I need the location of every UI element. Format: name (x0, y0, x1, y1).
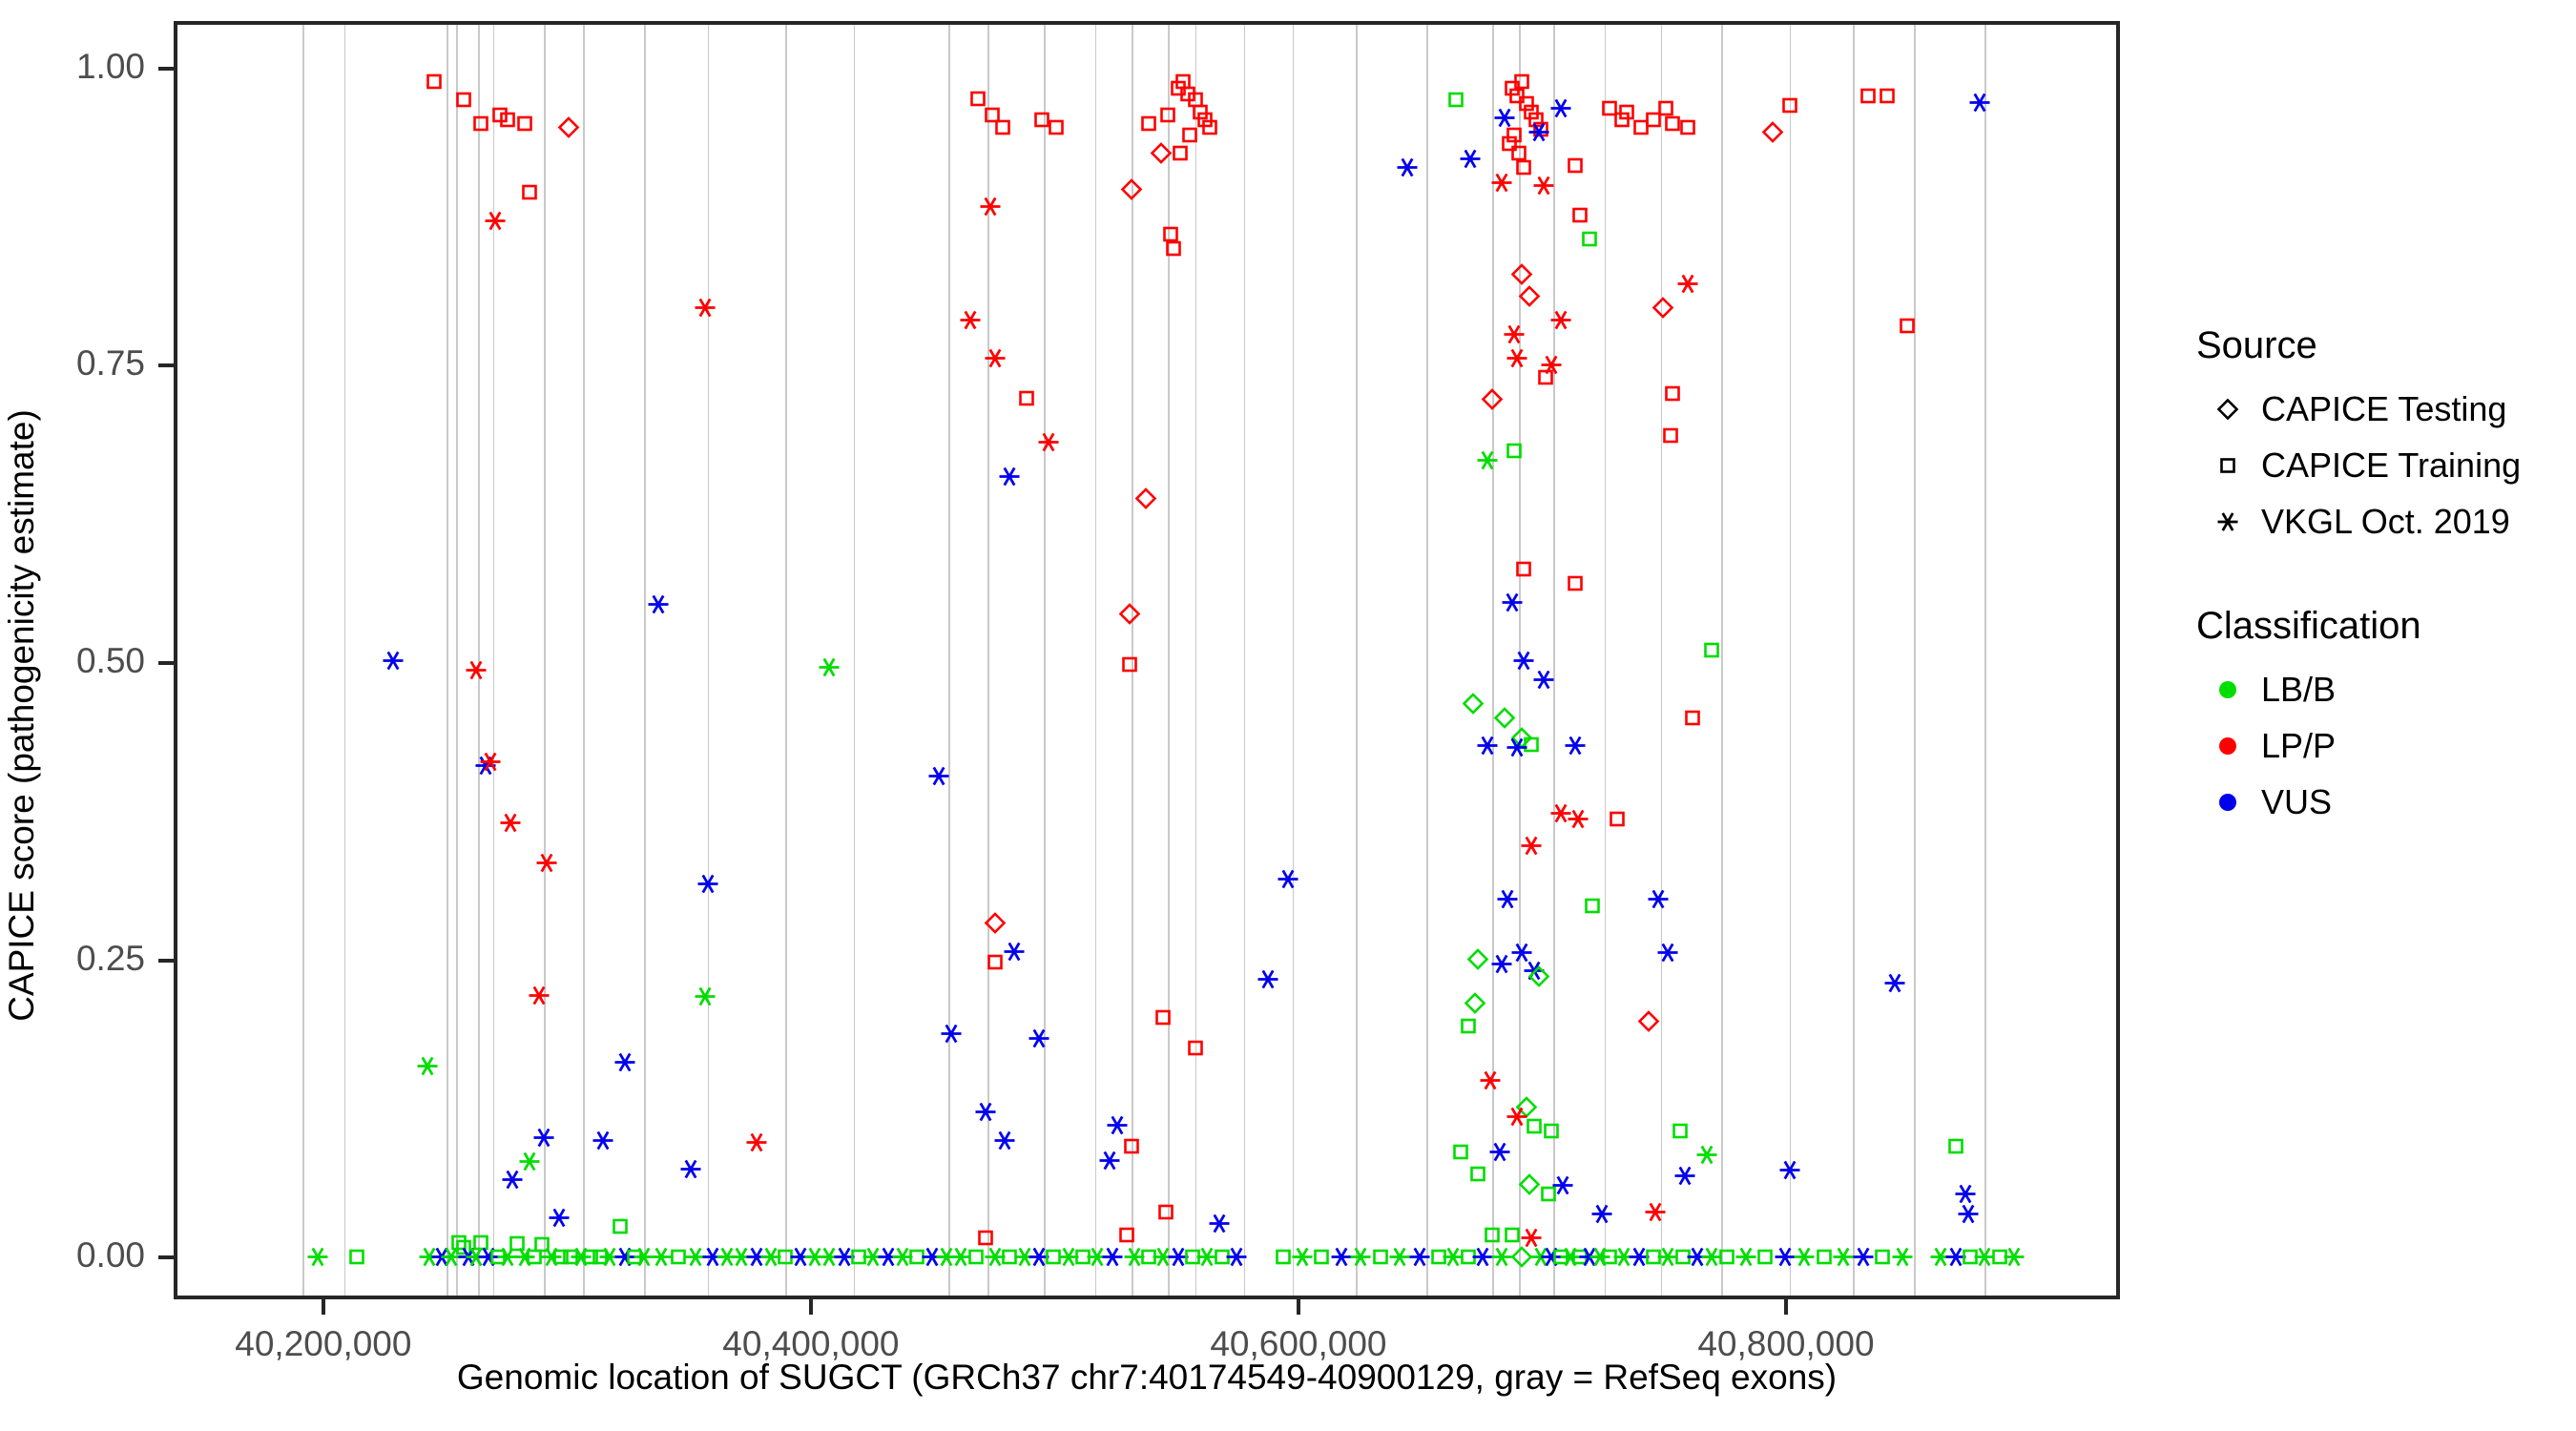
data-point (1683, 1242, 1712, 1275)
exon-gridline (1492, 25, 1494, 1296)
data-point (1537, 1242, 1566, 1275)
data-point (1644, 884, 1672, 918)
data-point (990, 1126, 1019, 1159)
data-point (1010, 1242, 1039, 1275)
y-tick-mark (158, 67, 174, 71)
data-point (611, 1242, 639, 1275)
legend-title-source: Source (2196, 324, 2566, 367)
data-point (903, 1242, 931, 1275)
y-tick-label: 0.50 (0, 641, 145, 681)
data-point (888, 1242, 917, 1275)
data-point (437, 1242, 466, 1275)
data-point (1405, 1242, 1434, 1275)
exon-gridline (1605, 25, 1607, 1296)
data-point (545, 1203, 573, 1236)
data-point (611, 1047, 639, 1081)
data-point (1525, 962, 1553, 995)
exon-gridline (1853, 25, 1855, 1296)
data-point (467, 1228, 495, 1261)
data-point (1547, 798, 1575, 832)
data-point (1531, 363, 1560, 396)
dot-lp-p-icon (2194, 717, 2261, 774)
data-point (496, 808, 525, 841)
data-point (1561, 570, 1589, 603)
data-point (1149, 1004, 1177, 1037)
exon-gridline (1790, 25, 1792, 1296)
data-point (698, 1242, 727, 1275)
data-point (1561, 731, 1589, 764)
data-point (1274, 864, 1302, 898)
data-point (1507, 938, 1536, 971)
data-point (1547, 93, 1575, 127)
data-point (995, 1242, 1024, 1275)
data-point (1169, 68, 1197, 101)
data-point (1028, 106, 1056, 139)
legend-item-dot-lp-p[interactable]: LP/P (2194, 717, 2566, 774)
data-point (1527, 1242, 1555, 1275)
legend-spacer (2194, 550, 2566, 605)
data-point (1517, 831, 1546, 864)
plot-panel (174, 21, 2120, 1299)
exon-gridline (1356, 25, 1358, 1296)
data-point (1520, 956, 1548, 989)
data-point (1564, 805, 1592, 839)
data-point (1534, 1179, 1563, 1213)
data-point (537, 1242, 566, 1275)
x-tick-mark (1784, 1299, 1788, 1315)
data-point (303, 1242, 332, 1275)
data-point (567, 1242, 595, 1275)
data-point (1149, 1242, 1177, 1275)
data-point (815, 1242, 843, 1275)
data-point (978, 101, 1007, 135)
data-point (1522, 106, 1550, 139)
data-point (742, 1242, 771, 1275)
dot-vus-icon (2194, 774, 2261, 830)
data-point (981, 908, 1009, 942)
data-point (1132, 484, 1160, 517)
exon-gridline (493, 25, 495, 1296)
data-point (1346, 1242, 1375, 1275)
exon-gridline (948, 25, 950, 1296)
data-point (1873, 82, 1901, 115)
data-point (1517, 1223, 1546, 1256)
data-point (786, 1242, 815, 1275)
legend-classification-items: LB/BLP/PVUS (2194, 661, 2566, 830)
data-point (1639, 1242, 1668, 1275)
data-point (1771, 1242, 1799, 1275)
data-point (1152, 1197, 1180, 1231)
data-point (1547, 305, 1575, 339)
data-point (691, 982, 719, 1015)
exon-gridline (1244, 25, 1246, 1296)
data-point (449, 1233, 478, 1266)
asterisk-vkgl-oct-2019-icon (2194, 493, 2261, 550)
data-point (528, 1231, 556, 1264)
data-point (1493, 884, 1522, 918)
data-point (681, 1242, 710, 1275)
data-point (1175, 121, 1204, 155)
data-point (1507, 260, 1536, 294)
data-point (1634, 1007, 1663, 1041)
data-point (1456, 145, 1485, 178)
data-point (1115, 651, 1144, 684)
data-point (1186, 97, 1215, 131)
data-point (1174, 79, 1202, 113)
legend-item-dot-lb-b[interactable]: LB/B (2194, 661, 2566, 717)
data-point (1713, 1242, 1741, 1275)
data-point (1669, 1242, 1697, 1275)
data-point (1671, 1162, 1699, 1195)
data-point (493, 106, 522, 139)
data-point (981, 947, 1009, 981)
x-tick-mark (1297, 1299, 1300, 1315)
data-point (946, 1242, 975, 1275)
data-point (1926, 1242, 1955, 1275)
data-point (1500, 320, 1528, 353)
data-point (1965, 88, 1994, 121)
data-point (976, 193, 1005, 226)
data-point (1625, 1242, 1653, 1275)
data-point (1503, 1102, 1531, 1135)
data-point (1476, 1067, 1505, 1100)
data-point (844, 1242, 873, 1275)
data-point (676, 1154, 705, 1188)
data-point (1527, 115, 1555, 149)
exon-gridline (1721, 25, 1723, 1296)
data-point (1178, 1242, 1207, 1275)
data-point (981, 343, 1009, 377)
data-point (1120, 1242, 1149, 1275)
exon-gridline (344, 25, 346, 1296)
data-point (379, 647, 407, 680)
data-point (1464, 1159, 1492, 1192)
data-point (471, 752, 500, 785)
data-point (525, 981, 553, 1014)
exon-gridline (302, 25, 304, 1296)
chart-root: CAPICE score (pathogenicity estimate) 0.… (0, 0, 2576, 1431)
data-point (503, 1230, 531, 1263)
y-tick-label: 1.00 (0, 47, 145, 87)
data-point (1751, 1242, 1779, 1275)
diamond-capice-testing-icon (2194, 381, 2261, 437)
data-point (427, 1242, 456, 1275)
data-point (415, 1242, 444, 1275)
data-point (547, 1242, 575, 1275)
data-point (1586, 1242, 1614, 1275)
data-point (727, 1242, 756, 1275)
data-point (1473, 731, 1502, 764)
data-point (1603, 805, 1631, 839)
data-point (532, 849, 561, 882)
data-point (481, 207, 509, 240)
y-tick-mark (158, 661, 174, 665)
data-point (1517, 730, 1546, 763)
data-point (1025, 1024, 1053, 1057)
data-point (1758, 117, 1787, 151)
data-point (1566, 200, 1594, 234)
data-point (1112, 1221, 1141, 1255)
dot-lb-b-icon (2194, 661, 2261, 717)
data-point (1095, 1146, 1124, 1179)
data-point (486, 101, 514, 135)
exon-gridline (1132, 25, 1133, 1296)
data-point (874, 1242, 903, 1275)
data-point (420, 68, 448, 101)
data-point (1509, 647, 1538, 680)
legend-label: VUS (2261, 782, 2332, 822)
data-point (1500, 121, 1528, 155)
data-point (1951, 1179, 1980, 1213)
data-point (1507, 68, 1536, 101)
data-point (1159, 234, 1188, 267)
data-point (343, 1242, 371, 1275)
data-point (1454, 1012, 1483, 1046)
data-point (515, 1148, 544, 1181)
data-point (1610, 1242, 1638, 1275)
data-point (1103, 1110, 1132, 1144)
exon-gridline (987, 25, 989, 1296)
data-point (1424, 1242, 1453, 1275)
legend-title-classification: Classification (2196, 605, 2566, 648)
data-point (1498, 1221, 1527, 1255)
exon-gridline (1519, 25, 1521, 1296)
plot-area (177, 25, 2116, 1296)
exon-gridline (644, 25, 646, 1296)
data-point (586, 1242, 614, 1275)
data-point (449, 86, 478, 119)
legend-label: CAPICE Testing (2261, 389, 2506, 429)
exon-gridline (1095, 25, 1097, 1296)
exon-gridline (785, 25, 787, 1296)
exon-gridline (1661, 25, 1663, 1296)
data-point (1464, 945, 1492, 979)
y-tick-mark (158, 1255, 174, 1259)
exon-gridline (1168, 25, 1170, 1296)
data-point (1525, 117, 1553, 151)
data-point (1498, 589, 1527, 622)
legend: Source CAPICE TestingCAPICE TrainingVKGL… (2194, 324, 2566, 830)
data-point (1461, 989, 1489, 1023)
data-point (1459, 690, 1487, 723)
data-point (1985, 1242, 2014, 1275)
data-point (1578, 892, 1607, 925)
data-point (1556, 1242, 1585, 1275)
data-point (647, 1242, 675, 1275)
data-point (1439, 1242, 1467, 1275)
exon-gridline (478, 25, 480, 1296)
data-point (576, 1242, 605, 1275)
exon-gridline (1426, 25, 1428, 1296)
data-point (606, 1212, 634, 1245)
data-point (1566, 1242, 1594, 1275)
data-point (988, 113, 1017, 146)
data-point (1134, 1242, 1163, 1275)
data-point (1666, 1116, 1694, 1150)
data-point (1790, 1242, 1818, 1275)
data-point (1222, 1242, 1251, 1275)
data-point (742, 1129, 771, 1162)
data-point (1595, 1242, 1624, 1275)
data-point (1868, 1242, 1897, 1275)
exon-gridline (708, 25, 710, 1296)
data-point (1956, 1242, 1984, 1275)
data-point (664, 1242, 693, 1275)
data-point (1208, 1242, 1236, 1275)
data-point (1588, 1200, 1616, 1234)
data-point (1366, 1242, 1395, 1275)
x-axis-title: Genomic location of SUGCT (GRCh37 chr7:4… (174, 1355, 2120, 1400)
data-point (1653, 938, 1682, 971)
legend-item-diamond-capice-testing[interactable]: CAPICE Testing (2194, 381, 2566, 437)
exon-gridline (583, 25, 585, 1296)
data-point (1810, 1242, 1839, 1275)
data-point (1134, 110, 1163, 143)
data-point (1503, 343, 1531, 377)
data-point (413, 1052, 442, 1086)
data-point (1512, 89, 1541, 122)
legend-label: LB/B (2261, 670, 2336, 710)
data-point (1454, 1242, 1483, 1275)
data-point (1156, 219, 1185, 253)
data-point (476, 748, 505, 781)
y-tick-label: 0.25 (0, 939, 145, 979)
square-capice-training-icon (2194, 437, 2261, 493)
data-point (1025, 1242, 1053, 1275)
data-point (971, 1223, 1000, 1256)
exon-gridline (1293, 25, 1295, 1296)
data-point (757, 1242, 785, 1275)
data-point (1485, 1138, 1514, 1172)
data-point (713, 1242, 741, 1275)
data-point (1205, 1210, 1234, 1243)
data-point (1547, 1242, 1575, 1275)
data-point (1954, 1200, 1983, 1234)
legend-label: CAPICE Training (2261, 446, 2521, 486)
data-point (510, 110, 539, 143)
data-point (1732, 1242, 1760, 1275)
data-point (1520, 1111, 1548, 1145)
data-point (918, 1242, 946, 1275)
data-point (556, 1242, 585, 1275)
data-point (691, 294, 719, 327)
data-point (1385, 1242, 1414, 1275)
data-point (589, 1126, 617, 1159)
data-point (1490, 103, 1519, 136)
data-point (1509, 555, 1538, 589)
data-point (1608, 106, 1636, 139)
data-point (962, 1242, 990, 1275)
data-point (1490, 704, 1519, 737)
data-point (1069, 1242, 1097, 1275)
data-point (1393, 154, 1422, 187)
data-point (1888, 1242, 1917, 1275)
data-point (1473, 446, 1502, 479)
y-tick-mark (158, 959, 174, 963)
y-tick-label: 0.75 (0, 343, 145, 384)
data-point (1012, 384, 1041, 417)
data-point (1500, 436, 1528, 469)
data-point (1893, 311, 1922, 344)
exon-gridline (456, 25, 458, 1296)
data-point (445, 1228, 473, 1261)
data-point (1115, 599, 1144, 633)
data-point (1653, 1242, 1682, 1275)
data-point (1503, 82, 1531, 115)
data-point (1575, 224, 1604, 258)
data-point (1575, 1242, 1604, 1275)
data-point (462, 1242, 490, 1275)
legend-source-items: CAPICE TestingCAPICE TrainingVKGL Oct. 2… (2194, 381, 2566, 550)
exon-gridline (1044, 25, 1046, 1296)
data-point (1942, 1132, 1970, 1166)
data-point (1517, 97, 1546, 131)
data-point (1658, 379, 1687, 412)
exon-gridline (854, 25, 856, 1296)
exon-gridline (1984, 25, 1986, 1296)
data-point (1327, 1242, 1356, 1275)
data-point (1083, 1242, 1111, 1275)
data-point (595, 1242, 624, 1275)
data-point (1673, 270, 1702, 303)
data-point (1503, 734, 1531, 767)
legend-item-dot-vus[interactable]: VUS (2194, 774, 2566, 830)
data-point (1641, 1197, 1670, 1231)
data-point (510, 1242, 539, 1275)
data-point (1678, 704, 1707, 737)
data-point (1034, 428, 1063, 462)
legend-item-square-capice-training[interactable]: CAPICE Training (2194, 437, 2566, 493)
x-tick-mark (322, 1299, 325, 1315)
data-point (971, 1097, 1000, 1130)
data-point (1658, 110, 1687, 143)
data-point (1193, 1242, 1221, 1275)
data-point (981, 1242, 1009, 1275)
data-point (1561, 151, 1589, 184)
data-point (498, 1165, 527, 1198)
exon-gridline (1195, 25, 1197, 1296)
exon-gridline (1553, 25, 1555, 1296)
data-point (1612, 97, 1641, 131)
data-point (1147, 139, 1175, 173)
data-point (1166, 139, 1195, 173)
y-tick-label: 0.00 (0, 1235, 145, 1275)
data-point (1627, 113, 1655, 146)
y-axis-title: CAPICE score (pathogenicity estimate) (0, 0, 44, 1431)
data-point (1000, 937, 1028, 970)
data-point (800, 1242, 829, 1275)
data-point (1595, 93, 1624, 127)
data-point (1880, 969, 1909, 1003)
legend-label: LP/P (2261, 726, 2336, 766)
data-point (1054, 1242, 1083, 1275)
data-point (1195, 113, 1224, 146)
data-point (644, 590, 673, 623)
data-point (2000, 1242, 2028, 1275)
data-point (1307, 1242, 1336, 1275)
data-point (1673, 113, 1702, 146)
data-point (956, 305, 985, 339)
legend-item-asterisk-vkgl-oct-2019[interactable]: VKGL Oct. 2019 (2194, 493, 2566, 550)
data-point (1442, 86, 1470, 119)
data-point (1942, 1242, 1970, 1275)
data-point (859, 1242, 887, 1275)
data-point (932, 1242, 961, 1275)
data-point (1446, 1138, 1475, 1172)
data-point (1509, 154, 1538, 187)
data-point (1652, 93, 1680, 127)
exon-gridline (447, 25, 448, 1296)
